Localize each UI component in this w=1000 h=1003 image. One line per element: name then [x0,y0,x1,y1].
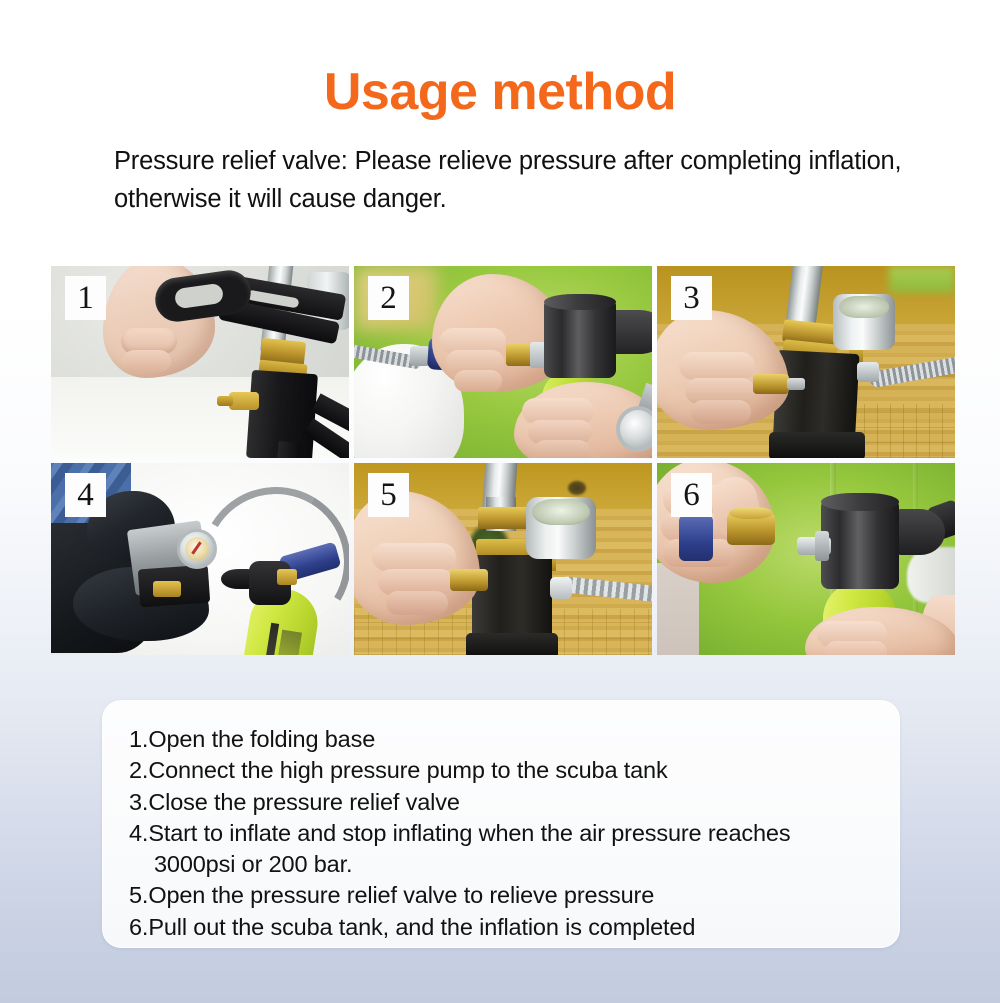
instruction-text: Connect the high pressure pump to the sc… [148,755,667,786]
step-badge-5: 5 [368,473,409,517]
brass-collar [478,507,530,529]
instruction-number: 3. [129,787,148,818]
instruction-text-continued: 3000psi or 200 bar. [129,849,873,880]
instruction-text: Open the folding base [148,724,375,755]
step-badge-1: 1 [65,276,106,320]
hose-elbow [895,509,945,555]
step-badge-4: 4 [65,473,106,517]
relief-valve-nipple [787,378,805,390]
folding-base-foot [466,633,558,655]
finger [825,641,887,655]
brass-fitting [153,581,181,597]
pressure-gauge-face [839,296,889,318]
step-photo-4: 4 [51,463,349,655]
instruction-number: 2. [129,755,148,786]
step-photo-5: 5 [354,463,652,655]
steps-gallery: 1 2 [51,266,955,655]
brass-fitting-top [729,507,773,519]
finger [372,543,456,571]
instruction-text: Open the pressure relief valve to reliev… [148,880,654,911]
instruction-text: Pull out the scuba tank, and the inflati… [148,912,695,943]
valve-nozzle [610,310,652,354]
instruction-number: 4. [129,818,148,849]
step-badge-6: 6 [671,473,712,517]
wristwatch [616,406,652,452]
folding-base-foot [769,432,865,458]
instruction-item: 1. Open the folding base [129,724,873,755]
relief-valve-knob [753,374,789,394]
step-photo-3: 3 [657,266,955,458]
step-photo-1: 1 [51,266,349,458]
instruction-number: 6. [129,912,148,943]
step-photo-6: 6 [657,463,955,655]
tank-valve-top [821,493,899,511]
finger [123,350,171,372]
instruction-text: Close the pressure relief valve [148,787,459,818]
step-badge-2: 2 [368,276,409,320]
instruction-item: 3. Close the pressure relief valve [129,787,873,818]
finger [534,440,590,458]
background-object [568,481,586,495]
step-badge-3: 3 [671,276,712,320]
relief-valve-nipple [217,396,233,406]
valve-nipple-ring [815,531,829,561]
hose-nut [550,577,572,599]
instructions-card: 1. Open the folding base 2. Connect the … [102,700,900,948]
instruction-item: 6. Pull out the scuba tank, and the infl… [129,912,873,943]
relief-valve-knob [450,569,488,591]
instruction-item: 2. Connect the high pressure pump to the… [129,755,873,786]
subtitle-warning: Pressure relief valve: Please relieve pr… [80,143,920,218]
finger [691,400,751,424]
tank-valve-body [821,499,899,589]
green-blur-patch [889,266,955,293]
blue-grip [679,515,713,561]
tank-valve-top [544,294,616,310]
brass-fitting [277,569,297,585]
step-photo-2: 2 [354,266,652,458]
instruction-number: 5. [129,880,148,911]
finger [454,370,502,392]
instruction-item: 4. Start to inflate and stop inflating w… [129,818,873,849]
tank-valve-body [544,298,616,378]
instruction-item: 5. Open the pressure relief valve to rel… [129,880,873,911]
instruction-text: Start to inflate and stop inflating when… [148,818,790,849]
pressure-gauge-face [532,499,590,525]
finger [679,352,755,380]
finger [386,591,448,615]
page-title: Usage method [0,0,1000,121]
instruction-number: 1. [129,724,148,755]
hose-nut [857,362,879,382]
relief-valve-knob [229,392,259,410]
